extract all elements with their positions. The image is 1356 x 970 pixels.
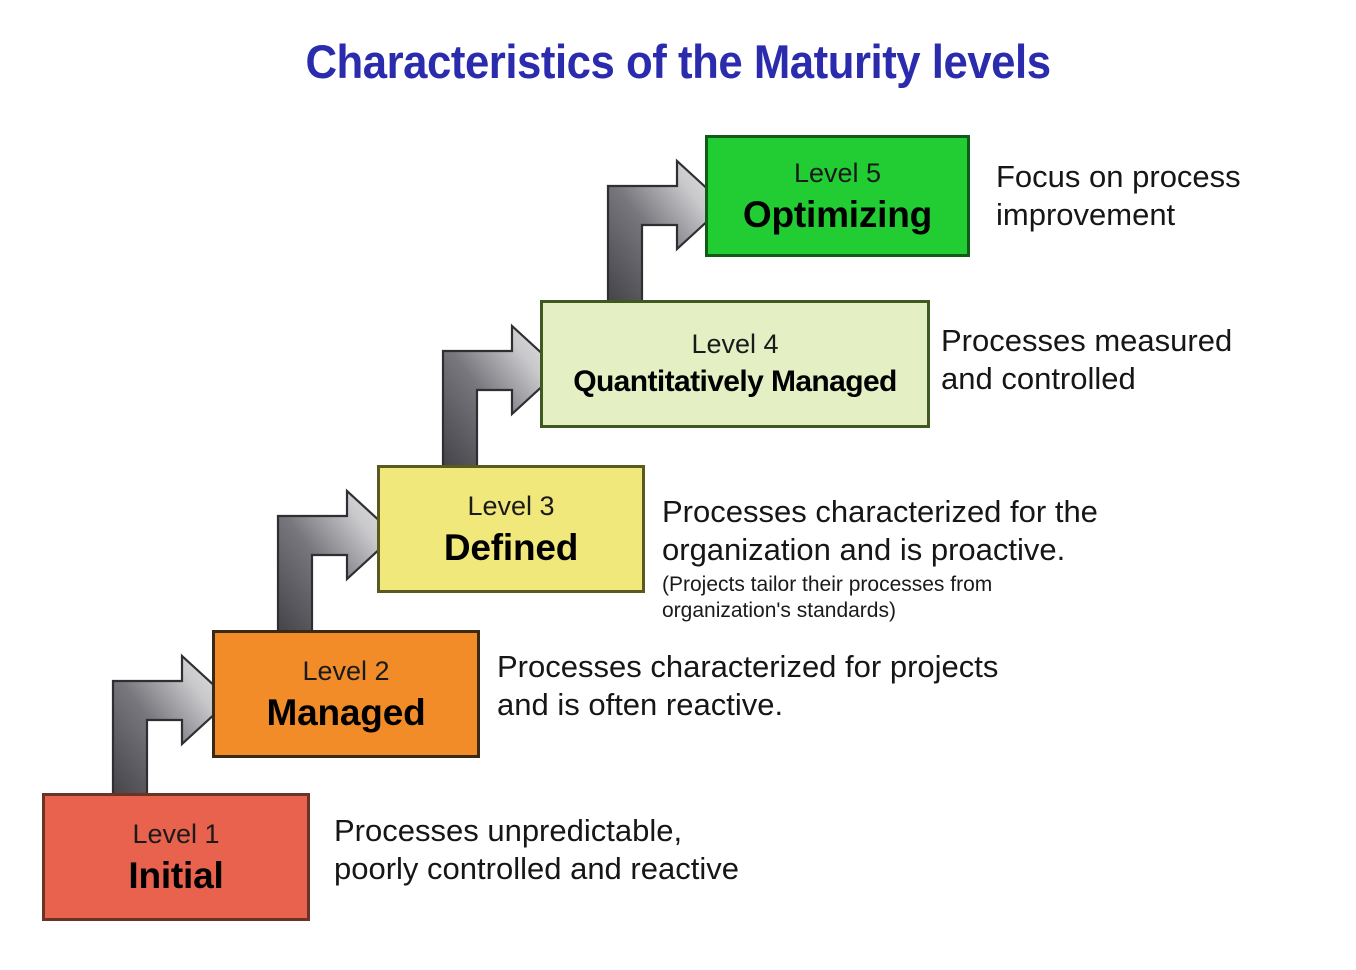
- level-1-description: Processes unpredictable, poorly controll…: [334, 812, 894, 888]
- level-1-box[interactable]: Level 1 Initial: [42, 793, 310, 921]
- level-3-number: Level 3: [467, 493, 554, 520]
- level-5-number: Level 5: [794, 160, 881, 187]
- page-title: Characteristics of the Maturity levels: [47, 34, 1308, 89]
- level-4-number: Level 4: [691, 331, 778, 358]
- level-5-box[interactable]: Level 5 Optimizing: [705, 135, 970, 257]
- level-1-number: Level 1: [132, 821, 219, 848]
- level-3-name: Defined: [444, 529, 578, 566]
- level-5-name: Optimizing: [743, 196, 932, 233]
- level-2-name: Managed: [267, 694, 426, 731]
- level-3-description-main: Processes characterized for the organiza…: [662, 494, 1098, 567]
- level-2-box[interactable]: Level 2 Managed: [212, 630, 480, 758]
- level-2-number: Level 2: [302, 658, 389, 685]
- level-4-box[interactable]: Level 4 Quantitatively Managed: [540, 300, 930, 428]
- level-3-description-note: (Projects tailor their processes from or…: [662, 572, 1262, 623]
- level-3-description: Processes characterized for the organiza…: [662, 455, 1262, 661]
- level-1-name: Initial: [128, 857, 223, 894]
- level-5-description: Focus on process improvement: [996, 158, 1356, 234]
- level-4-description: Processes measured and controlled: [941, 322, 1341, 398]
- maturity-levels-diagram: Characteristics of the Maturity levels: [0, 0, 1356, 970]
- level-4-name: Quantitatively Managed: [573, 367, 897, 397]
- level-3-box[interactable]: Level 3 Defined: [377, 465, 645, 593]
